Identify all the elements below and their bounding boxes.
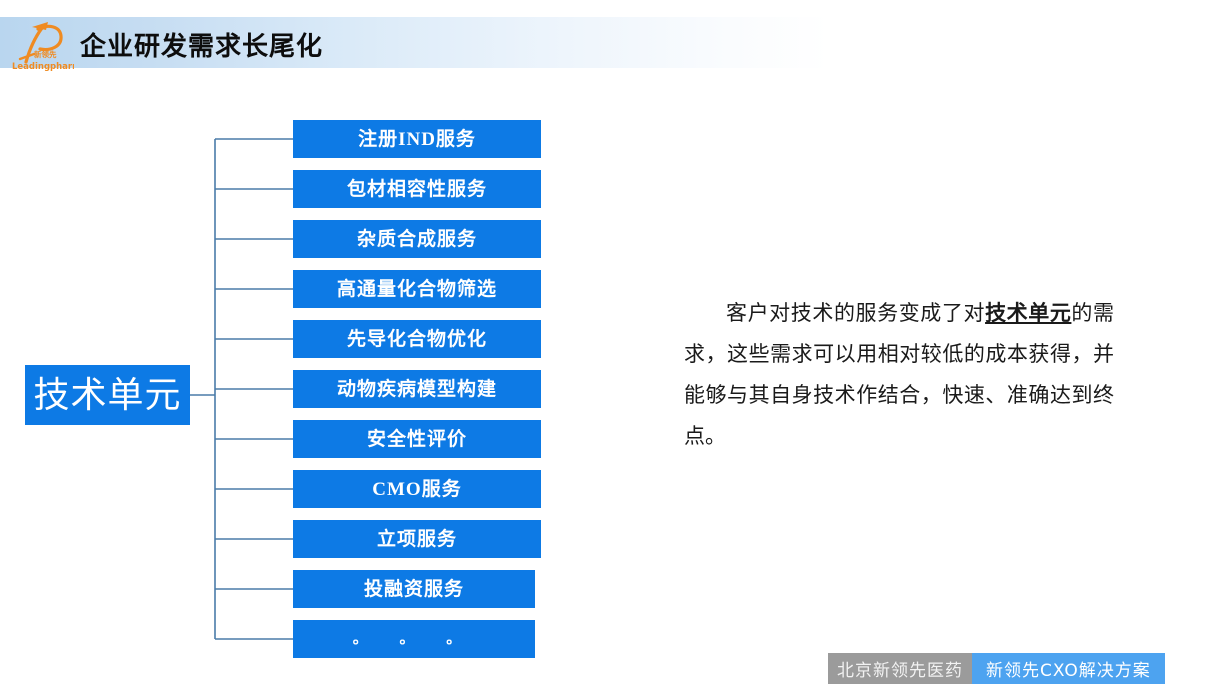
diagram-leaf-label: 立项服务	[377, 530, 457, 549]
diagram-leaf-node[interactable]: 高通量化合物筛选	[293, 270, 541, 308]
diagram-leaf-label: 先导化合物优化	[347, 330, 487, 349]
diagram-leaf-label: 注册IND服务	[358, 130, 476, 149]
diagram-leaf-label: 。 。 。	[353, 632, 476, 647]
paragraph-text-part1: 客户对技术的服务变成了对	[726, 301, 985, 325]
diagram-leaf-node[interactable]: 动物疾病模型构建	[293, 370, 541, 408]
diagram-leaf-node[interactable]: 投融资服务	[293, 570, 535, 608]
diagram-leaf-node[interactable]: 立项服务	[293, 520, 541, 558]
diagram-leaf-label: 高通量化合物筛选	[337, 280, 497, 299]
diagram-leaf-node[interactable]: 包材相容性服务	[293, 170, 541, 208]
diagram-root-node[interactable]: 技术单元	[25, 365, 190, 425]
diagram-leaf-label: 动物疾病模型构建	[337, 380, 497, 399]
diagram-leaf-node[interactable]: 杂质合成服务	[293, 220, 541, 258]
footer-bar: 北京新领先医药 新领先CXO解决方案	[828, 653, 1165, 684]
diagram-leaf-node[interactable]: CMO服务	[293, 470, 541, 508]
diagram-leaf-label: 投融资服务	[364, 580, 464, 599]
footer-company-name: 北京新领先医药	[828, 653, 972, 684]
technology-unit-diagram: 技术单元 注册IND服务包材相容性服务杂质合成服务高通量化合物筛选先导化合物优化…	[0, 0, 600, 687]
diagram-leaf-node[interactable]: 先导化合物优化	[293, 320, 541, 358]
diagram-leaf-label: 杂质合成服务	[357, 230, 477, 249]
diagram-leaf-label: 包材相容性服务	[347, 180, 487, 199]
body-paragraph: 客户对技术的服务变成了对技术单元的需求，这些需求可以用相对较低的成本获得，并能够…	[684, 293, 1114, 457]
diagram-leaf-node[interactable]: 注册IND服务	[293, 120, 541, 158]
diagram-leaf-node[interactable]: 安全性评价	[293, 420, 541, 458]
footer-solution-label: 新领先CXO解决方案	[986, 656, 1151, 681]
footer-solution-name: 新领先CXO解决方案	[972, 653, 1165, 684]
diagram-root-label: 技术单元	[33, 377, 181, 413]
diagram-leaf-label: CMO服务	[372, 480, 461, 499]
diagram-leaf-node[interactable]: 。 。 。	[293, 620, 535, 658]
diagram-leaf-label: 安全性评价	[367, 430, 467, 449]
paragraph-emphasis: 技术单元	[985, 301, 1071, 325]
footer-company-label: 北京新领先医药	[837, 656, 963, 681]
